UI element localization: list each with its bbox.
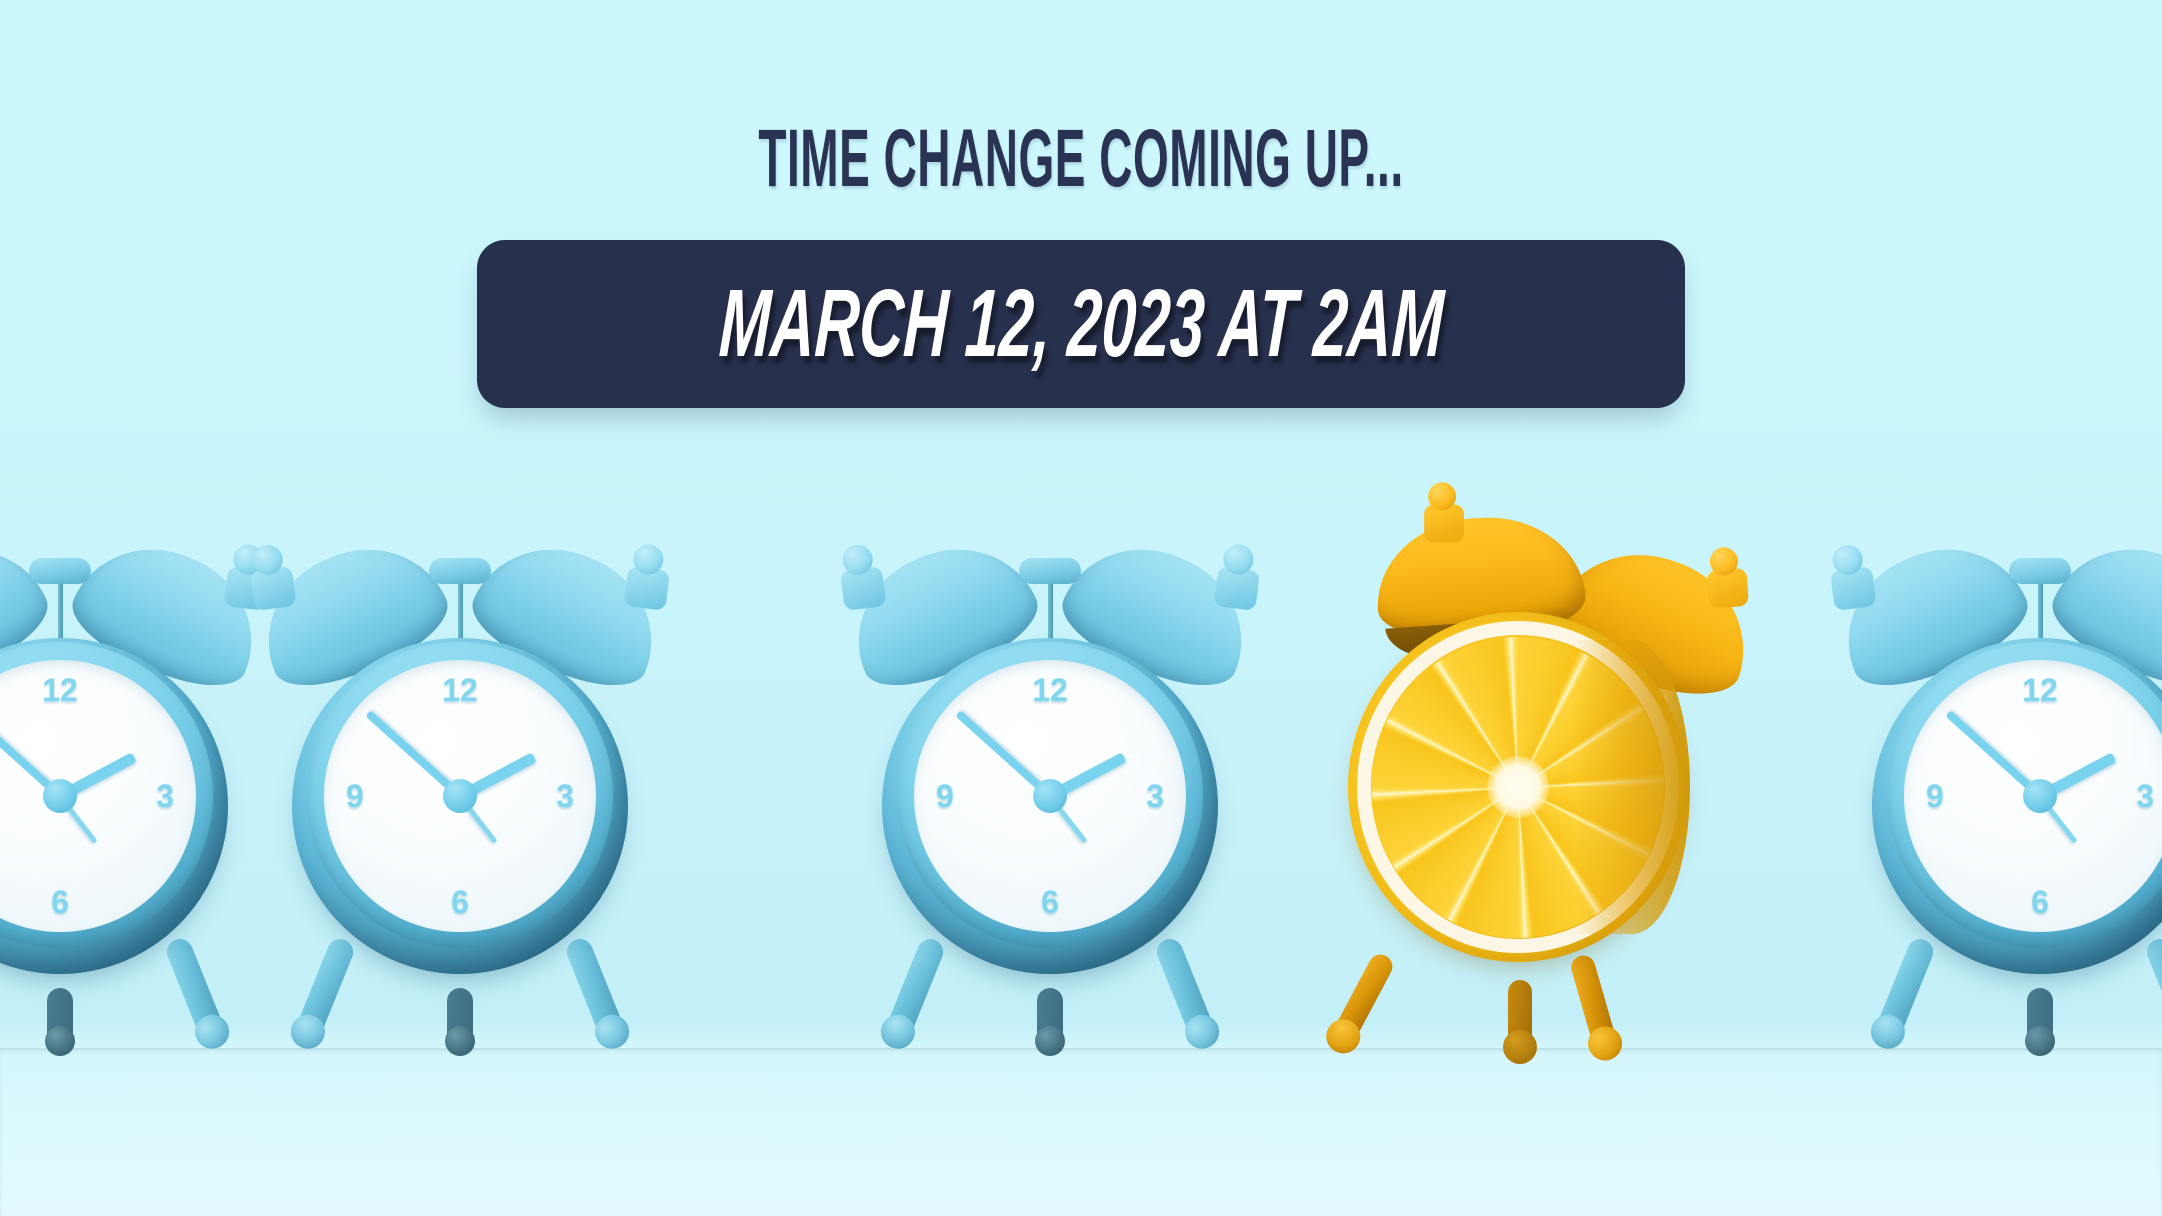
clock-numeral-6: 6	[2031, 886, 2049, 918]
clock-numeral-9: 9	[346, 780, 364, 812]
hammer-head	[2009, 558, 2071, 584]
clock-face: 12369	[324, 660, 596, 932]
hammer-head	[29, 558, 91, 584]
clock-leg-right	[563, 935, 628, 1045]
clock-numeral-9: 9	[936, 780, 954, 812]
clock-numeral-9: 9	[1926, 780, 1944, 812]
orange-bell-knob-left	[1424, 504, 1464, 542]
date-banner-text: MARCH 12, 2023 AT 2AM	[717, 276, 1445, 372]
clock-hand-pivot	[1033, 779, 1067, 813]
clock-numeral-12: 12	[1032, 674, 1068, 706]
date-banner: MARCH 12, 2023 AT 2AM	[477, 240, 1685, 408]
clock-hand-pivot	[43, 779, 77, 813]
clock-leg-right	[1153, 935, 1218, 1045]
orange-slice-face	[1348, 612, 1688, 962]
clock-numeral-6: 6	[51, 886, 69, 918]
clock-face: 12369	[1904, 660, 2162, 932]
hammer-head	[1019, 558, 1081, 584]
bell-knob-right	[1213, 566, 1260, 611]
clock-leg-center	[447, 988, 473, 1048]
clock-leg-left	[292, 935, 357, 1045]
clock-numeral-3: 3	[156, 780, 174, 812]
clock-numeral-3: 3	[2136, 780, 2154, 812]
orange-clock-leg-right	[1568, 953, 1618, 1054]
banner-graphic: 12369123691236912369 TIME CHANGE COMING …	[0, 0, 2162, 1216]
bell-knob-left	[840, 566, 887, 611]
bell-knob-left	[1830, 566, 1877, 611]
clock-leg-left	[882, 935, 947, 1045]
page-title: TIME CHANGE COMING UP...	[476, 118, 1687, 200]
clock-numeral-6: 6	[451, 886, 469, 918]
clock-leg-center	[47, 988, 73, 1048]
clock-numeral-12: 12	[442, 674, 478, 706]
clock-numeral-6: 6	[1041, 886, 1059, 918]
bell-knob-left	[250, 566, 297, 611]
clock-leg-right	[2143, 935, 2162, 1045]
bell-knob-right	[623, 566, 670, 611]
clock-3: 12369	[850, 528, 1250, 1048]
clock-leg-center	[2027, 988, 2053, 1048]
orange-slice-core	[1487, 756, 1549, 818]
clock-5: 12369	[1840, 528, 2162, 1048]
orange-rind-edge	[1574, 640, 1690, 934]
floor-surface	[0, 1048, 2162, 1216]
clock-leg-left	[1872, 935, 1937, 1045]
clock-numeral-3: 3	[1146, 780, 1164, 812]
orange-clock-leg-left	[1329, 950, 1396, 1048]
clock-numeral-3: 3	[556, 780, 574, 812]
orange-bell-knob-right	[1706, 568, 1749, 609]
orange-clock	[1330, 500, 1770, 1060]
clock-hand-pivot	[2023, 779, 2057, 813]
clock-leg-right	[163, 935, 228, 1045]
orange-clock-leg-center	[1508, 980, 1532, 1054]
clock-face: 12369	[914, 660, 1186, 932]
clock-numeral-12: 12	[2022, 674, 2058, 706]
clock-2: 12369	[260, 528, 660, 1048]
clock-leg-center	[1037, 988, 1063, 1048]
clock-1: 12369	[0, 528, 260, 1048]
clock-numeral-12: 12	[42, 674, 78, 706]
clock-hand-pivot	[443, 779, 477, 813]
hammer-head	[429, 558, 491, 584]
